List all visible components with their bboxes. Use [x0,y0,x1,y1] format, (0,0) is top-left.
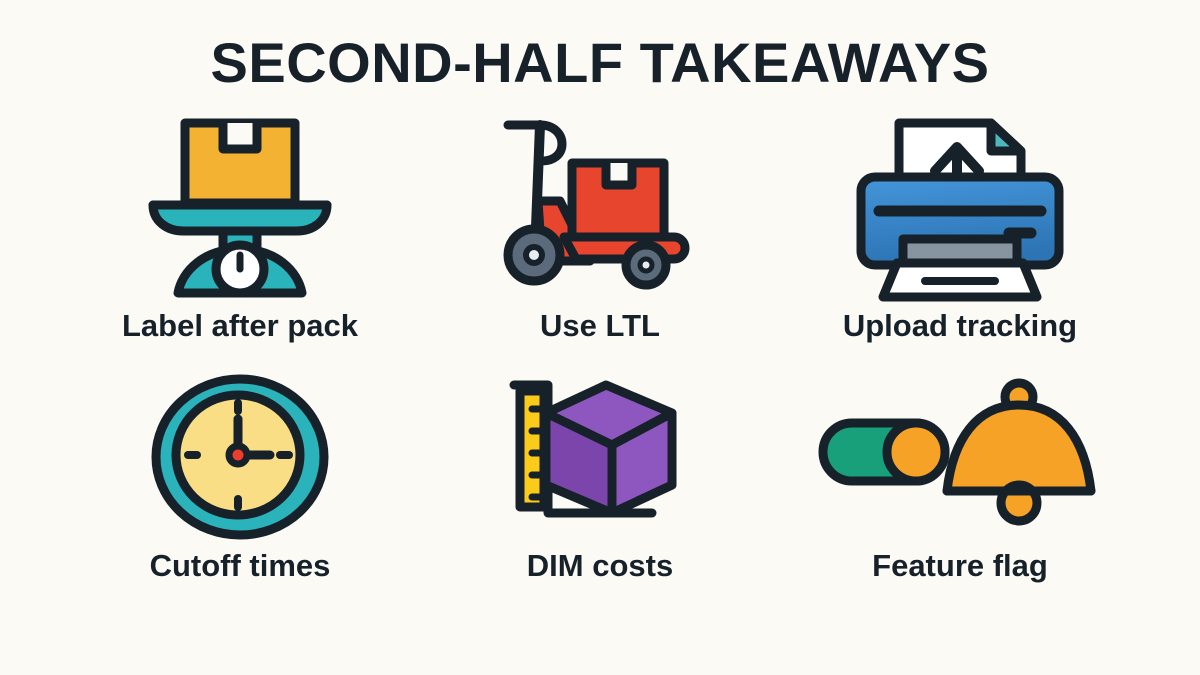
clock-icon [150,372,330,542]
takeaway-label: Label after pack [122,308,358,344]
toggle-bell-icon [815,372,1105,542]
cube-ruler-icon [500,372,700,542]
takeaway-label: Use LTL [540,308,660,344]
takeaway-label: Upload tracking [843,308,1077,344]
page-title: SECOND-HALF TAKEAWAYS [0,32,1200,94]
toggle-switch-on [823,423,945,481]
printer-upload-icon [853,112,1068,302]
takeaway-item-use-ltl[interactable]: Use LTL [420,112,780,372]
takeaway-item-label-after-pack[interactable]: Label after pack [60,112,420,372]
takeaway-label: Cutoff times [150,548,331,584]
takeaway-item-feature-flag[interactable]: Feature flag [780,372,1140,632]
pallet-jack-icon [490,112,710,302]
bell-icon [947,383,1091,521]
takeaway-item-dim-costs[interactable]: DIM costs [420,372,780,632]
takeaway-item-upload-tracking[interactable]: Upload tracking [780,112,1140,372]
takeaway-label: DIM costs [527,548,673,584]
package-scale-icon [135,112,345,302]
takeaways-grid: Label after pack [60,112,1140,632]
takeaway-label: Feature flag [872,548,1048,584]
slide-canvas: SECOND-HALF TAKEAWAYS [0,0,1200,675]
takeaway-item-cutoff-times[interactable]: Cutoff times [60,372,420,632]
